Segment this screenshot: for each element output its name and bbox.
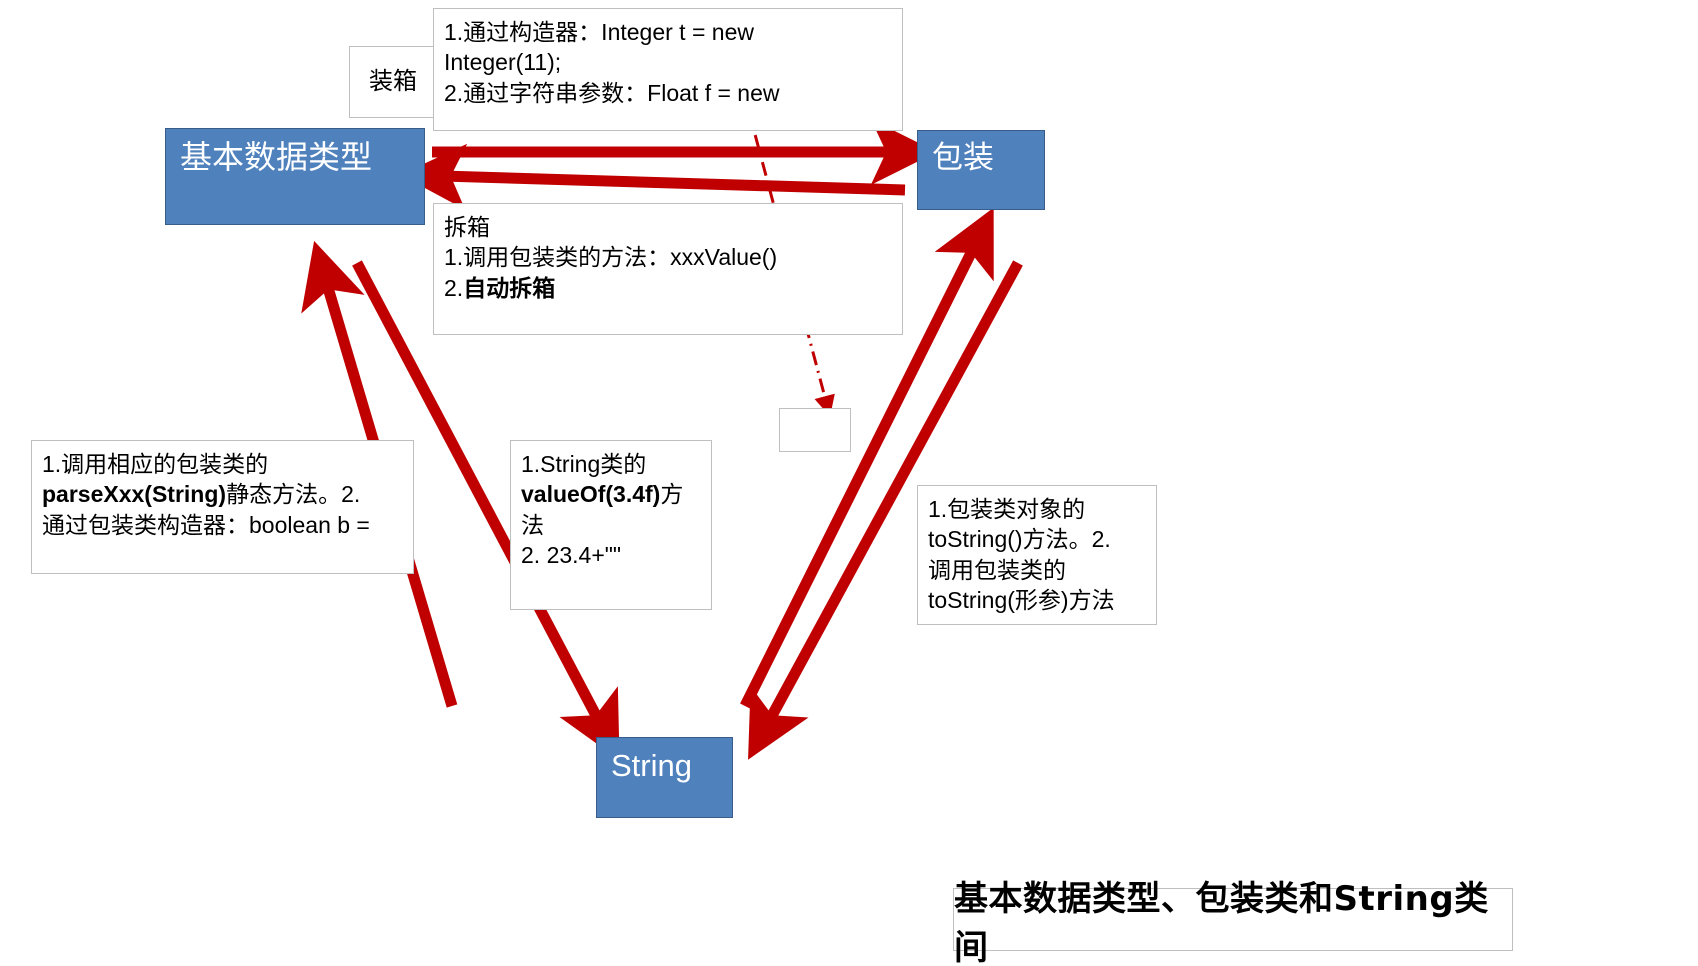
diagram-title-box: 基本数据类型、包装类和String类间 [953,888,1513,951]
valueof-line-1: 1.String类的 [521,449,701,479]
label-box-boxing-text: 装箱 [369,66,417,98]
textbox-parse-methods: 1.调用相应的包装类的 parseXxx(String)静态方法。2. 通过包装… [31,440,414,574]
unboxing-line-3-prefix: 2. [444,275,463,301]
unboxing-line-1: 拆箱 [444,212,892,242]
parse-line-1: 1.调用相应的包装类的 [42,449,403,479]
tostring-line-3: 调用包装类的 [928,555,1146,585]
node-wrapper-class[interactable]: 包装 [917,130,1045,210]
parse-line-2: parseXxx(String)静态方法。2. [42,479,403,509]
valueof-line-4: 2. 23.4+"" [521,540,701,570]
parse-line-2-rest: 静态方法。2. [226,481,360,507]
parse-line-2-bold: parseXxx(String) [42,481,226,507]
unboxing-line-3-bold: 自动拆箱 [463,275,555,301]
valueof-line-3: 法 [521,510,701,540]
node-wrapper-class-label: 包装 [918,131,1008,177]
diagram-title-text: 基本数据类型、包装类和String类间 [954,871,1512,966]
diagram-canvas: 基本数据类型 包装 String 装箱 1.通过构造器：Integer t = … [0,0,1698,966]
valueof-line-2: valueOf(3.4f)方 [521,479,701,509]
textbox-empty-placeholder [779,408,851,452]
textbox-valueof-methods: 1.String类的 valueOf(3.4f)方 法 2. 23.4+"" [510,440,712,610]
node-string-class-label: String [597,738,706,784]
node-primitive-type[interactable]: 基本数据类型 [165,128,425,225]
valueof-line-2-bold: valueOf(3.4f) [521,481,660,507]
empty-placeholder-text [780,409,850,425]
textbox-unboxing-methods: 拆箱 1.调用包装类的方法：xxxValue() 2.自动拆箱 [433,203,903,335]
parse-line-3: 通过包装类构造器：boolean b = [42,510,403,540]
tostring-line-2: toString()方法。2. [928,524,1146,554]
textbox-boxing-methods: 1.通过构造器：Integer t = new Integer(11); 2.通… [433,8,903,131]
valueof-line-2-rest: 方 [660,481,683,507]
boxing-line-1: 1.通过构造器：Integer t = new [444,17,892,47]
node-string-class[interactable]: String [596,737,733,818]
tostring-line-4: toString(形参)方法 [928,585,1146,615]
unboxing-line-3: 2.自动拆箱 [444,273,892,303]
tostring-line-1: 1.包装类对象的 [928,494,1146,524]
boxing-line-3: 2.通过字符串参数：Float f = new [444,78,892,108]
textbox-tostring-methods: 1.包装类对象的 toString()方法。2. 调用包装类的 toString… [917,485,1157,625]
node-primitive-type-label: 基本数据类型 [166,129,386,176]
arrow-wrapper-to-primitive [442,176,905,190]
label-box-boxing: 装箱 [349,46,437,118]
boxing-line-2: Integer(11); [444,47,892,77]
unboxing-line-2: 1.调用包装类的方法：xxxValue() [444,242,892,272]
